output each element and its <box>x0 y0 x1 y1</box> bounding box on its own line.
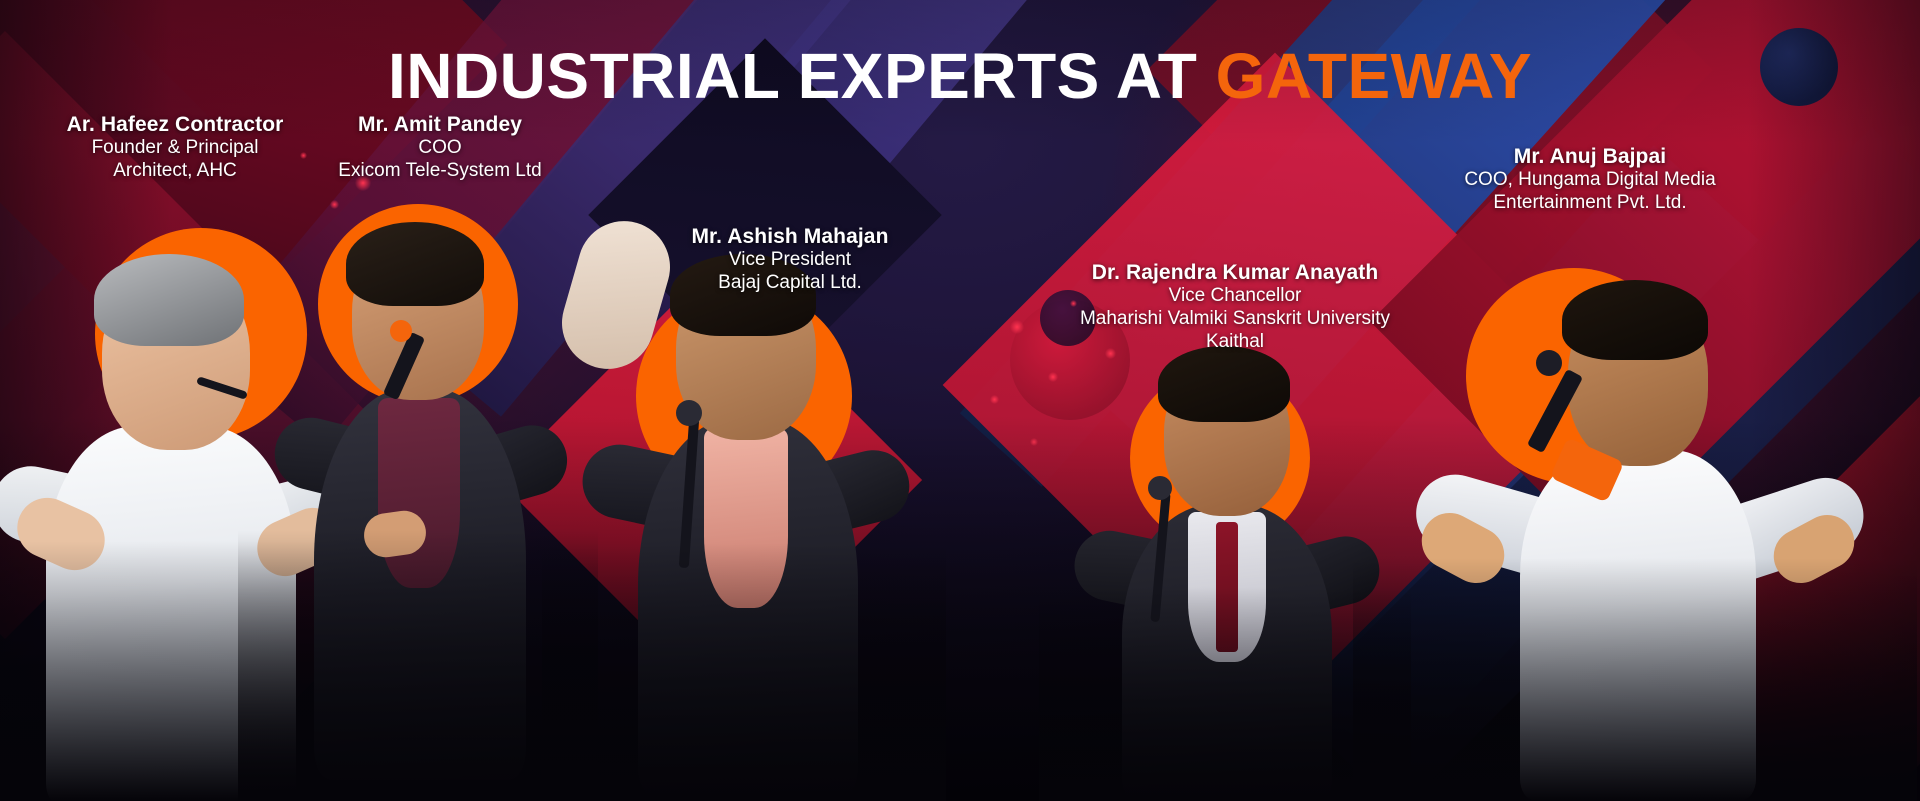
speaker-caption-2: Mr. Amit Pandey COO Exicom Tele-System L… <box>290 112 590 183</box>
speaker-name: Dr. Rajendra Kumar Anayath <box>1035 260 1435 285</box>
speaker-location: Kaithal <box>1035 331 1435 354</box>
speaker-name: Mr. Amit Pandey <box>290 112 590 137</box>
speaker-role: Vice President <box>630 249 950 272</box>
speaker-org: Exicom Tele-System Ltd <box>290 160 590 183</box>
speaker-photo-tie <box>1216 522 1238 652</box>
speaker-photo-microphone-tip <box>676 400 702 426</box>
speaker-photo-microphone-tip <box>1536 350 1562 376</box>
speaker-caption-4: Dr. Rajendra Kumar Anayath Vice Chancell… <box>1035 260 1435 354</box>
speaker-caption-5: Mr. Anuj Bajpai COO, Hungama Digital Med… <box>1400 144 1780 215</box>
speaker-photo-body <box>46 426 296 801</box>
background-bokeh-dot <box>1030 438 1038 446</box>
speaker-org: Maharishi Valmiki Sanskrit University <box>1035 308 1435 331</box>
speaker-org: Bajaj Capital Ltd. <box>630 272 950 295</box>
speaker-photo-shirt <box>704 428 788 608</box>
speaker-org: Entertainment Pvt. Ltd. <box>1400 192 1780 215</box>
speaker-role: COO, Hungama Digital Media <box>1400 169 1780 192</box>
speaker-photo-5 <box>1400 272 1870 801</box>
speaker-role: COO <box>290 137 590 160</box>
background-bokeh-dot <box>1010 320 1024 334</box>
speaker-caption-3: Mr. Ashish Mahajan Vice President Bajaj … <box>630 224 950 295</box>
speaker-photo-hair <box>346 222 484 306</box>
background-bokeh-dot <box>330 200 339 209</box>
speaker-photo-2 <box>268 212 568 801</box>
industrial-experts-banner: INDUSTRIAL EXPERTS AT GATEWAY Ar. Hafeez… <box>0 0 1920 801</box>
speaker-role: Vice Chancellor <box>1035 285 1435 308</box>
speaker-photo-hair <box>94 254 244 346</box>
speaker-photo-shirt <box>378 398 460 588</box>
speaker-name: Mr. Ashish Mahajan <box>630 224 950 249</box>
speaker-photo-microphone-tip <box>1148 476 1172 500</box>
page-title-main: INDUSTRIAL EXPERTS AT <box>388 40 1216 112</box>
speaker-photo-4 <box>1070 336 1380 801</box>
page-title-accent: GATEWAY <box>1216 40 1532 112</box>
background-bokeh-dot <box>1048 372 1058 382</box>
speaker-photo-body <box>1520 450 1756 800</box>
speaker-photo-hair <box>1158 346 1290 422</box>
speaker-name: Mr. Anuj Bajpai <box>1400 144 1780 169</box>
background-bokeh-dot <box>990 395 999 404</box>
speaker-photo-microphone-tip <box>390 320 412 342</box>
speaker-photo-3 <box>576 240 912 801</box>
speaker-photo-hair <box>1562 280 1708 360</box>
page-title: INDUSTRIAL EXPERTS AT GATEWAY <box>0 44 1920 108</box>
